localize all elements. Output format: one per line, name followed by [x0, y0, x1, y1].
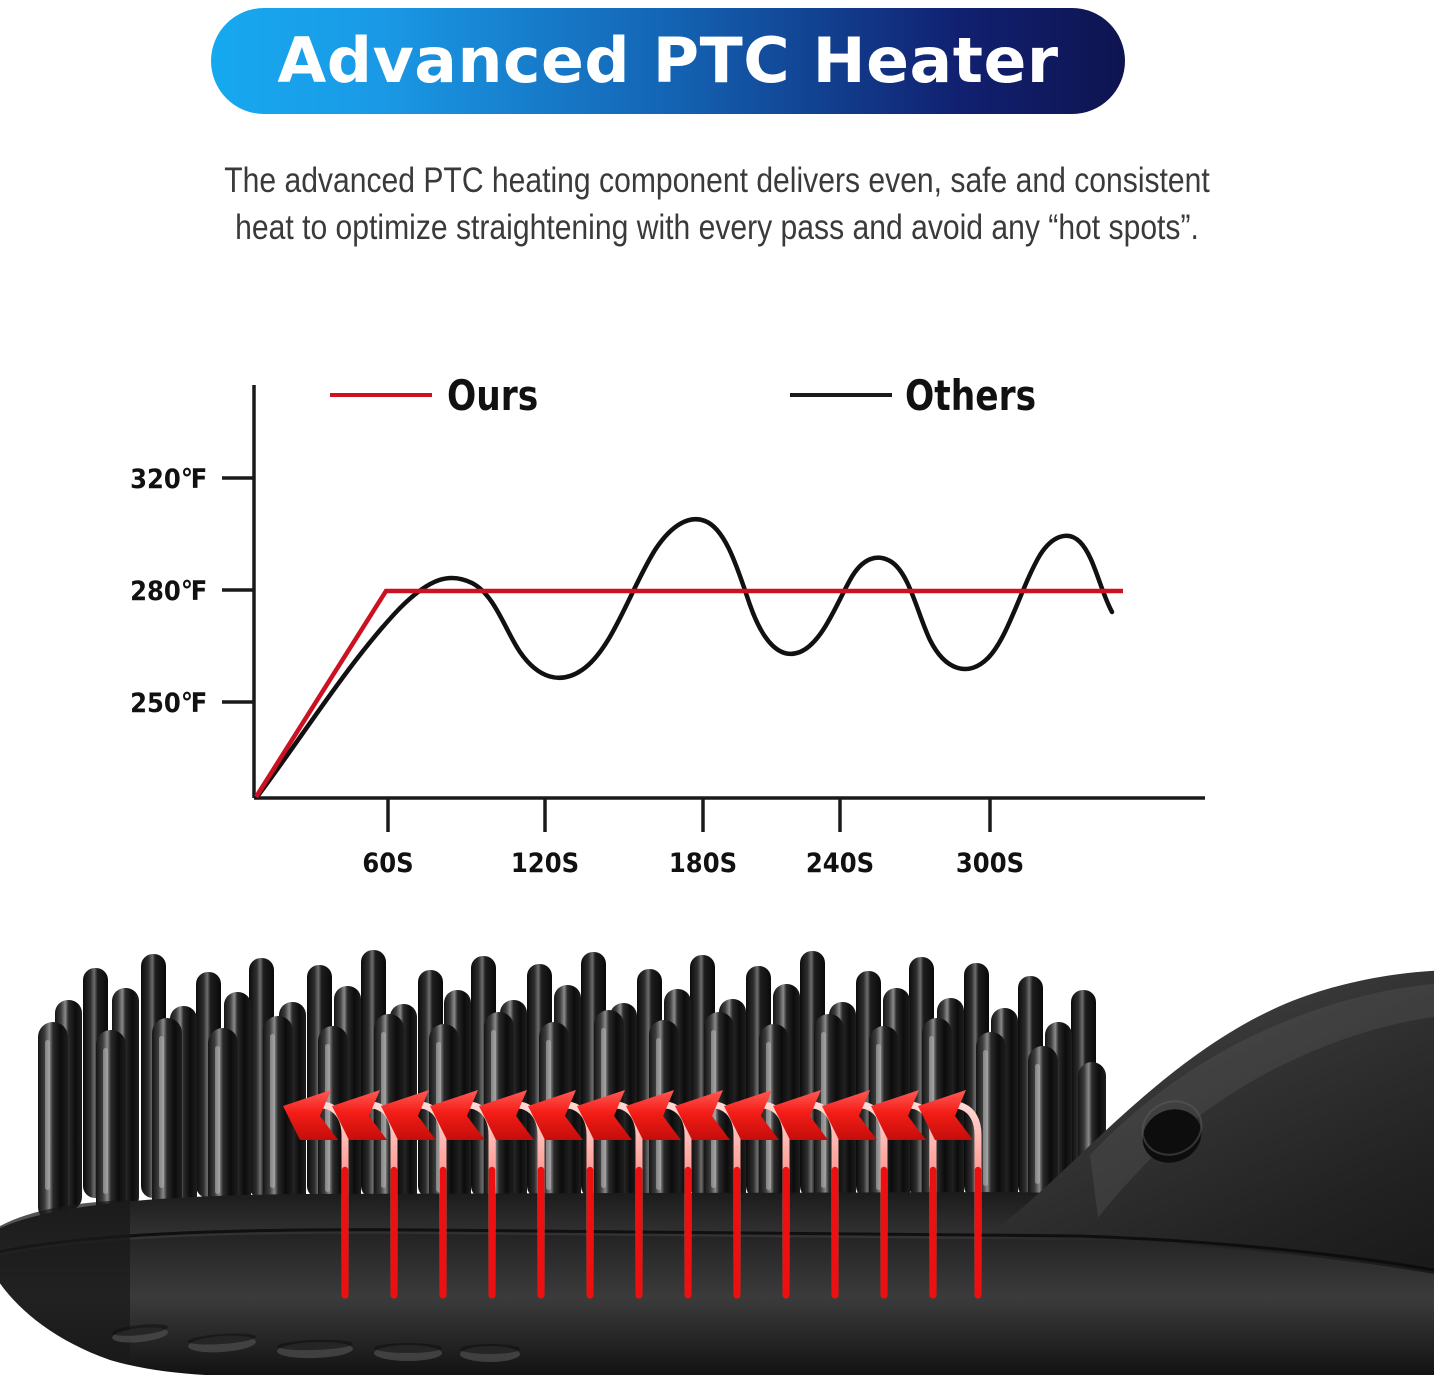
page-title: Advanced PTC Heater	[277, 30, 1058, 92]
x-tick-label-180: 180S	[649, 848, 757, 879]
series-line-others	[257, 519, 1112, 797]
x-tick-label-300: 300S	[936, 848, 1044, 879]
x-tick-label-120: 120S	[491, 848, 599, 879]
subtitle-paragraph: The advanced PTC heating component deliv…	[152, 158, 1282, 251]
y-tick-label-320: 320℉	[68, 464, 208, 495]
x-tick-label-60: 60S	[334, 848, 442, 879]
y-tick-label-250: 250℉	[68, 688, 208, 719]
subtitle-line-1: The advanced PTC heating component deliv…	[152, 158, 1282, 205]
brush-bottom-shell	[0, 1234, 1434, 1375]
header-banner: Advanced PTC Heater	[211, 8, 1125, 114]
x-tick-label-240: 240S	[786, 848, 894, 879]
product-photo	[0, 940, 1434, 1375]
y-tick-label-280: 280℉	[68, 576, 208, 607]
chart-svg	[0, 340, 1434, 880]
legend-label-others: Others	[905, 371, 1036, 420]
heat-comparison-chart: Ours Others 320℉ 280℉ 250℉ 60S 120S 180S…	[0, 340, 1434, 880]
legend-label-ours: Ours	[447, 371, 538, 420]
subtitle-line-2: heat to optimize straightening with ever…	[152, 205, 1282, 252]
product-illustration	[0, 940, 1434, 1375]
